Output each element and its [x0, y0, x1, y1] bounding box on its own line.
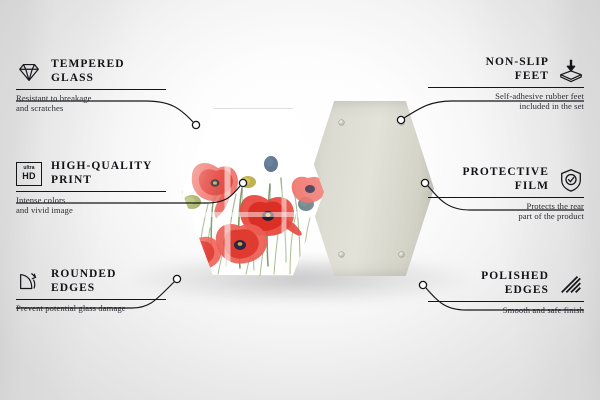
- feature-polished-edges: POLISHED EDGES Smooth and safe finish: [428, 270, 584, 315]
- feature-description: Smooth and safe finish: [428, 305, 584, 315]
- feature-header: TEMPERED GLASS: [16, 58, 166, 85]
- feature-protective-film: PROTECTIVE FILM Protects the rear part o…: [428, 166, 584, 222]
- feature-description: Protects the rear part of the product: [428, 201, 584, 222]
- feature-header: PROTECTIVE FILM: [428, 166, 584, 193]
- feature-description: Resistant to breakage and scratches: [16, 93, 166, 114]
- feature-header: ROUNDED EDGES: [16, 268, 166, 295]
- feature-non-slip-feet: NON-SLIP FEET Self-adhesive rubber feet …: [428, 56, 584, 112]
- feature-tempered-glass: TEMPERED GLASS Resistant to breakage and…: [16, 58, 166, 114]
- feature-title: NON-SLIP FEET: [486, 56, 549, 83]
- feature-header: POLISHED EDGES: [428, 270, 584, 297]
- feature-title: POLISHED EDGES: [481, 270, 549, 297]
- feature-header: NON-SLIP FEET: [428, 56, 584, 83]
- feature-title: TEMPERED GLASS: [51, 58, 125, 85]
- feature-rule: [428, 301, 584, 302]
- feature-description: Self-adhesive rubber feet included in th…: [428, 91, 584, 112]
- rubber-foot: [399, 252, 404, 257]
- feature-high-quality-print: ultra HD HIGH-QUALITY PRINT Intense colo…: [16, 160, 166, 216]
- shield-check-icon: [558, 167, 584, 193]
- press-down-pad-icon: [558, 57, 584, 83]
- feature-rounded-edges: ROUNDED EDGES Prevent potential glass da…: [16, 268, 166, 313]
- wire-node-tempered-glass: [192, 121, 199, 128]
- print-surface: [182, 108, 324, 276]
- ultra-hd-icon-main-text: HD: [22, 172, 35, 181]
- ultra-hd-icon: ultra HD: [16, 162, 42, 186]
- feature-rule: [16, 89, 166, 90]
- feature-description: Prevent potential glass damage: [16, 303, 166, 313]
- film-edge-highlight: [306, 101, 434, 276]
- wire-node-polished-edges: [419, 281, 426, 288]
- feature-description: Intense colors and vivid image: [16, 195, 166, 216]
- rounded-corner-icon: [16, 269, 42, 295]
- product-floor-shadow: [130, 258, 470, 304]
- diamond-icon: [16, 59, 42, 85]
- rubber-foot: [339, 252, 344, 257]
- poppy-artwork: [182, 108, 324, 276]
- hatched-triangle-icon: [558, 271, 584, 297]
- printed-glass-panel: [182, 108, 324, 276]
- feature-header: ultra HD HIGH-QUALITY PRINT: [16, 160, 166, 187]
- feature-rule: [428, 197, 584, 198]
- protective-film-panel: [306, 101, 434, 276]
- feature-title: ROUNDED EDGES: [51, 268, 117, 295]
- feature-rule: [428, 87, 584, 88]
- rubber-foot: [399, 120, 404, 125]
- feature-rule: [16, 191, 166, 192]
- feature-title: PROTECTIVE FILM: [462, 166, 549, 193]
- feature-rule: [16, 299, 166, 300]
- infographic-canvas: TEMPERED GLASS Resistant to breakage and…: [0, 0, 600, 400]
- rubber-foot: [339, 120, 344, 125]
- feature-title: HIGH-QUALITY PRINT: [51, 160, 152, 187]
- wire-node-rounded-edges: [173, 275, 180, 282]
